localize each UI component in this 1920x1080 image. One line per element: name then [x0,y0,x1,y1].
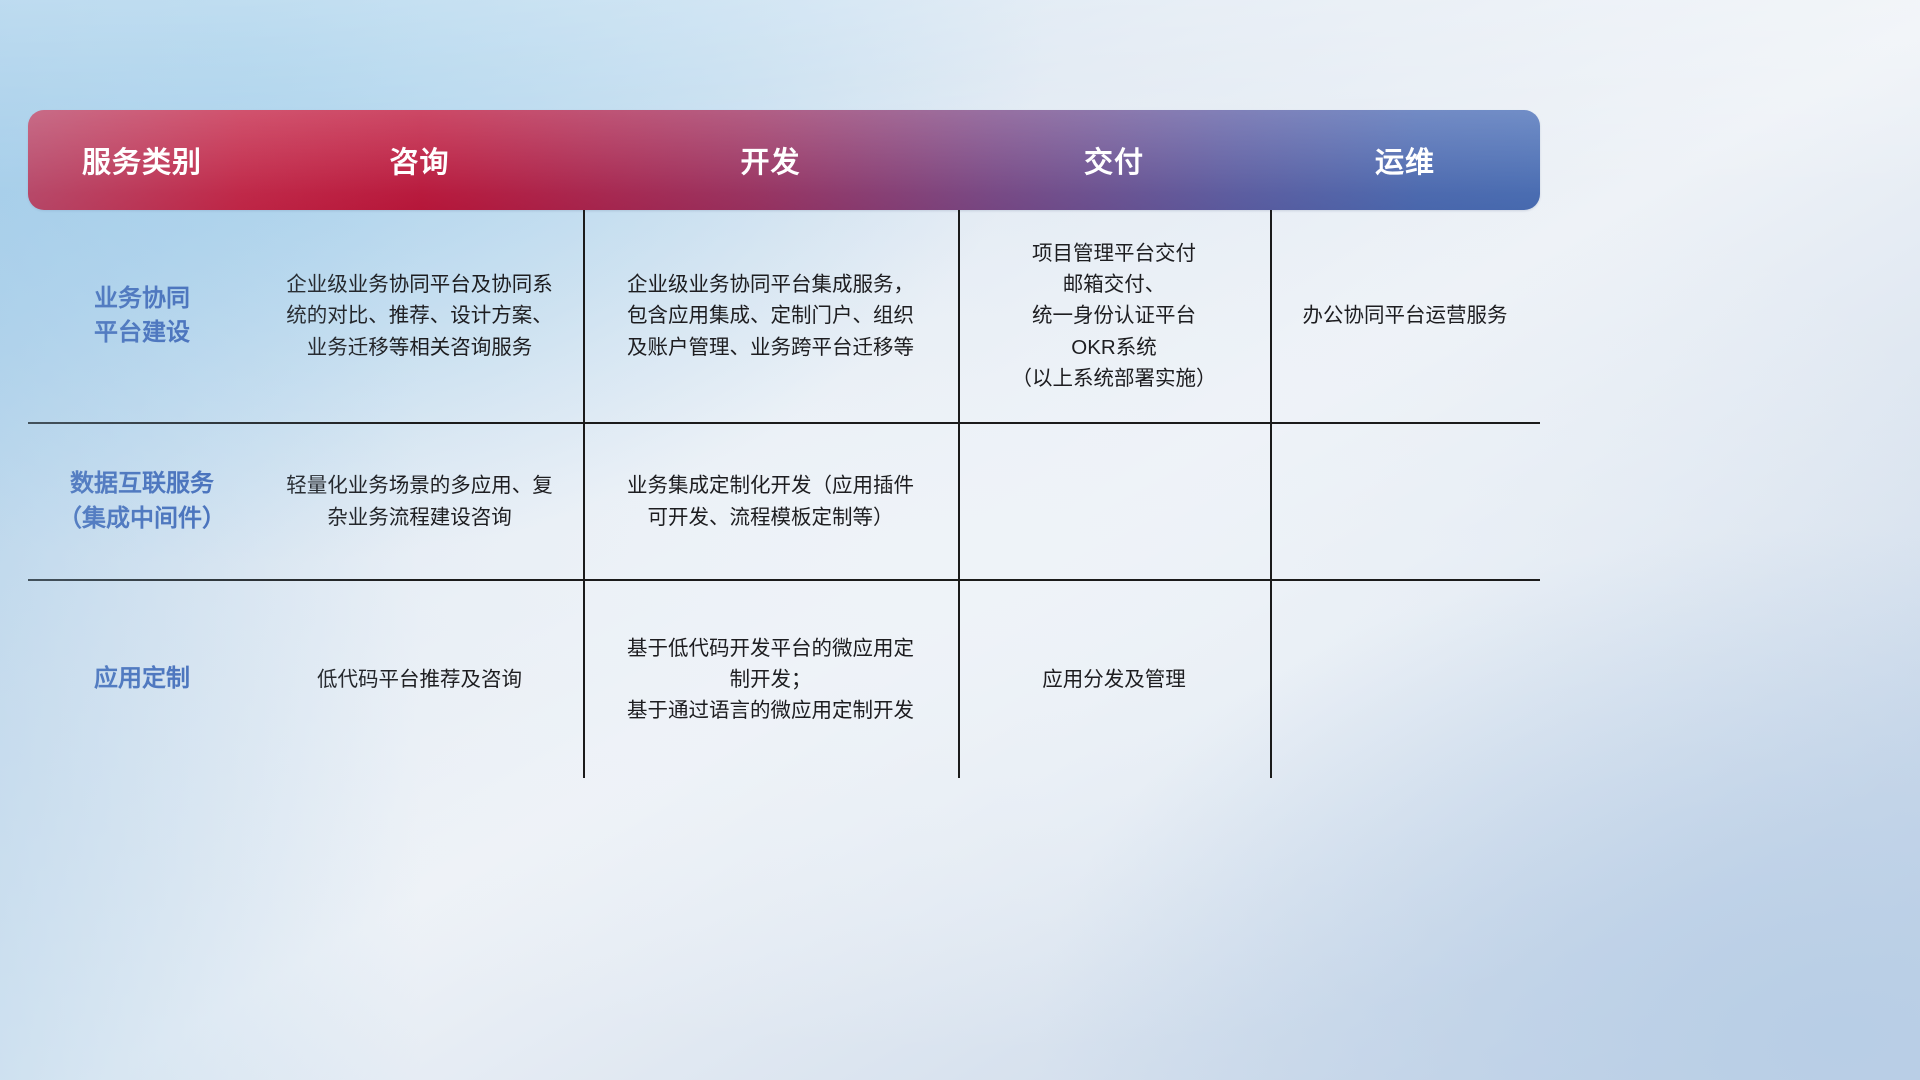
column-header-consulting: 咨询 [256,139,583,181]
column-header-development: 开发 [583,139,958,181]
column-divider-1 [583,210,585,422]
table-row: 业务协同 平台建设 企业级业务协同平台及协同系 统的对比、推荐、设计方案、 业务… [28,210,1540,422]
row-label-app-customization: 应用定制 [28,581,256,778]
column-divider-3 [1270,581,1272,778]
cell-consulting-row2: 轻量化业务场景的多应用、复 杂业务流程建设咨询 [256,424,583,579]
row-label-data-interconnect: 数据互联服务 （集成中间件） [28,424,256,579]
cell-consulting-row3: 低代码平台推荐及咨询 [256,581,583,778]
cell-development-row2: 业务集成定制化开发（应用插件 可开发、流程模板定制等） [583,424,958,579]
cell-delivery-row3: 应用分发及管理 [958,581,1270,778]
table-row: 数据互联服务 （集成中间件） 轻量化业务场景的多应用、复 杂业务流程建设咨询 业… [28,422,1540,579]
cell-operations-row3 [1270,581,1540,778]
service-matrix-table: 服务类别 咨询 开发 交付 运维 业务协同 平台建设 企业级业务协同平台及协同系… [28,110,1540,785]
cell-development-row3: 基于低代码开发平台的微应用定 制开发； 基于通过语言的微应用定制开发 [583,581,958,778]
page-background: 服务类别 咨询 开发 交付 运维 业务协同 平台建设 企业级业务协同平台及协同系… [0,0,1920,1080]
cell-delivery-row2 [958,424,1270,579]
column-divider-2 [958,581,960,778]
cell-operations-row1: 办公协同平台运营服务 [1270,210,1540,422]
column-header-category: 服务类别 [28,139,256,181]
column-header-operations: 运维 [1270,139,1540,181]
row-label-business-collaboration: 业务协同 平台建设 [28,210,256,422]
column-divider-3 [1270,210,1272,422]
cell-consulting-row1: 企业级业务协同平台及协同系 统的对比、推荐、设计方案、 业务迁移等相关咨询服务 [256,210,583,422]
column-divider-1 [583,424,585,579]
table-row: 应用定制 低代码平台推荐及咨询 基于低代码开发平台的微应用定 制开发； 基于通过… [28,579,1540,778]
column-divider-2 [958,424,960,579]
table-header-row: 服务类别 咨询 开发 交付 运维 [28,110,1540,210]
cell-development-row1: 企业级业务协同平台集成服务， 包含应用集成、定制门户、组织 及账户管理、业务跨平… [583,210,958,422]
column-divider-1 [583,581,585,778]
column-divider-2 [958,210,960,422]
column-header-delivery: 交付 [958,139,1270,181]
column-divider-3 [1270,424,1272,579]
table-body: 业务协同 平台建设 企业级业务协同平台及协同系 统的对比、推荐、设计方案、 业务… [28,210,1540,778]
cell-delivery-row1: 项目管理平台交付 邮箱交付、 统一身份认证平台 OKR系统 （以上系统部署实施） [958,210,1270,422]
cell-operations-row2 [1270,424,1540,579]
